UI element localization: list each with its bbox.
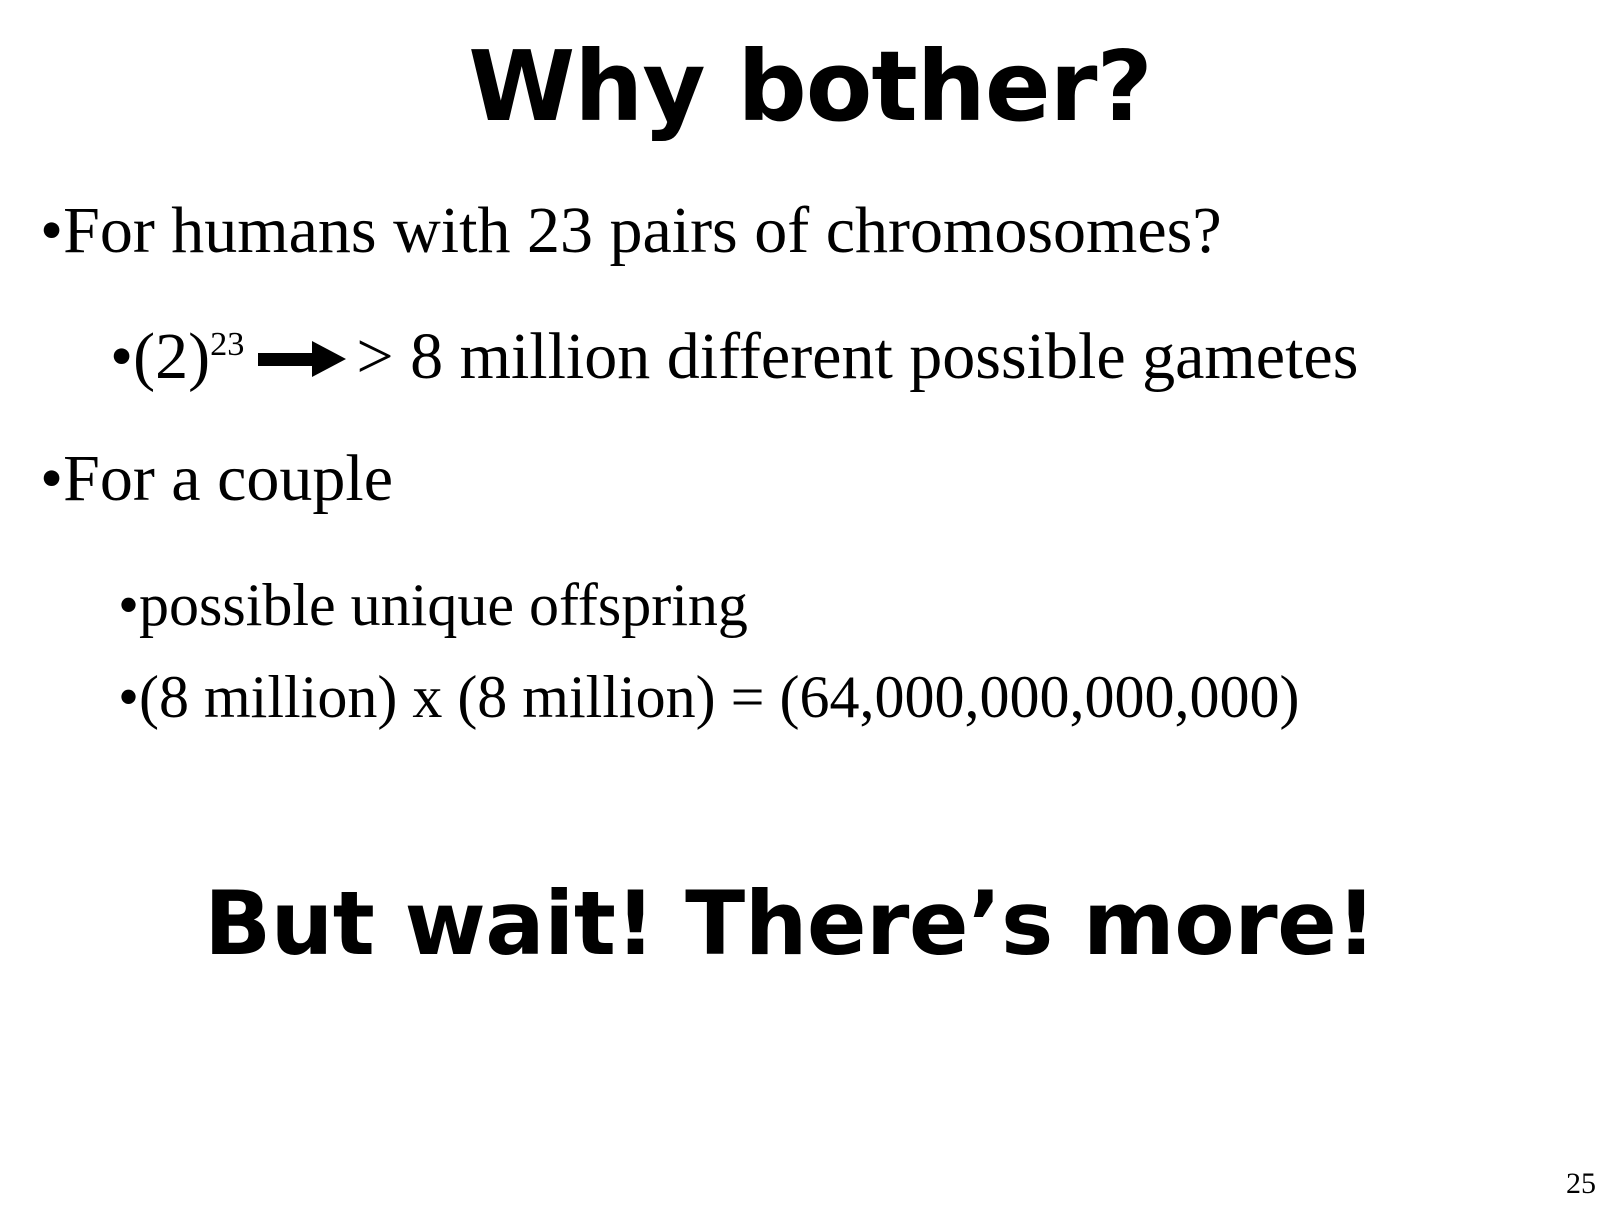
closing-statement: But wait! There’s more! [0, 880, 1620, 968]
slide: Why bother? •For humans with 23 pairs of… [0, 0, 1620, 1215]
right-arrow-icon [258, 341, 346, 375]
list-item-exponent: •(2)23> 8 million different possible gam… [110, 322, 1358, 391]
bullet-icon: • [118, 664, 139, 730]
list-item-label: possible unique offspring [139, 572, 748, 638]
list-item-label: For a couple [63, 442, 393, 515]
list-item-label: For humans with 23 pairs of chromosomes? [63, 194, 1222, 267]
exponent-value: 23 [210, 325, 244, 363]
arrow-head [312, 341, 346, 377]
bullet-icon: • [40, 194, 63, 267]
bullet-icon: • [110, 320, 133, 393]
list-item: •For a couple [40, 444, 393, 513]
bullet-icon: • [118, 572, 139, 638]
list-item: •possible unique offspring [118, 574, 748, 637]
list-item-label: > 8 million different possible gametes [356, 320, 1358, 393]
list-item: •(8 million) x (8 million) = (64,000,000… [118, 666, 1299, 729]
slide-body: •For humans with 23 pairs of chromosomes… [0, 0, 1620, 1215]
list-item-label: (8 million) x (8 million) = (64,000,000,… [139, 664, 1299, 730]
bullet-icon: • [40, 442, 63, 515]
exponent-base: (2) [133, 320, 210, 393]
list-item: •For humans with 23 pairs of chromosomes… [40, 196, 1222, 265]
page-number: 25 [1566, 1167, 1596, 1201]
arrow-shaft [258, 353, 320, 366]
